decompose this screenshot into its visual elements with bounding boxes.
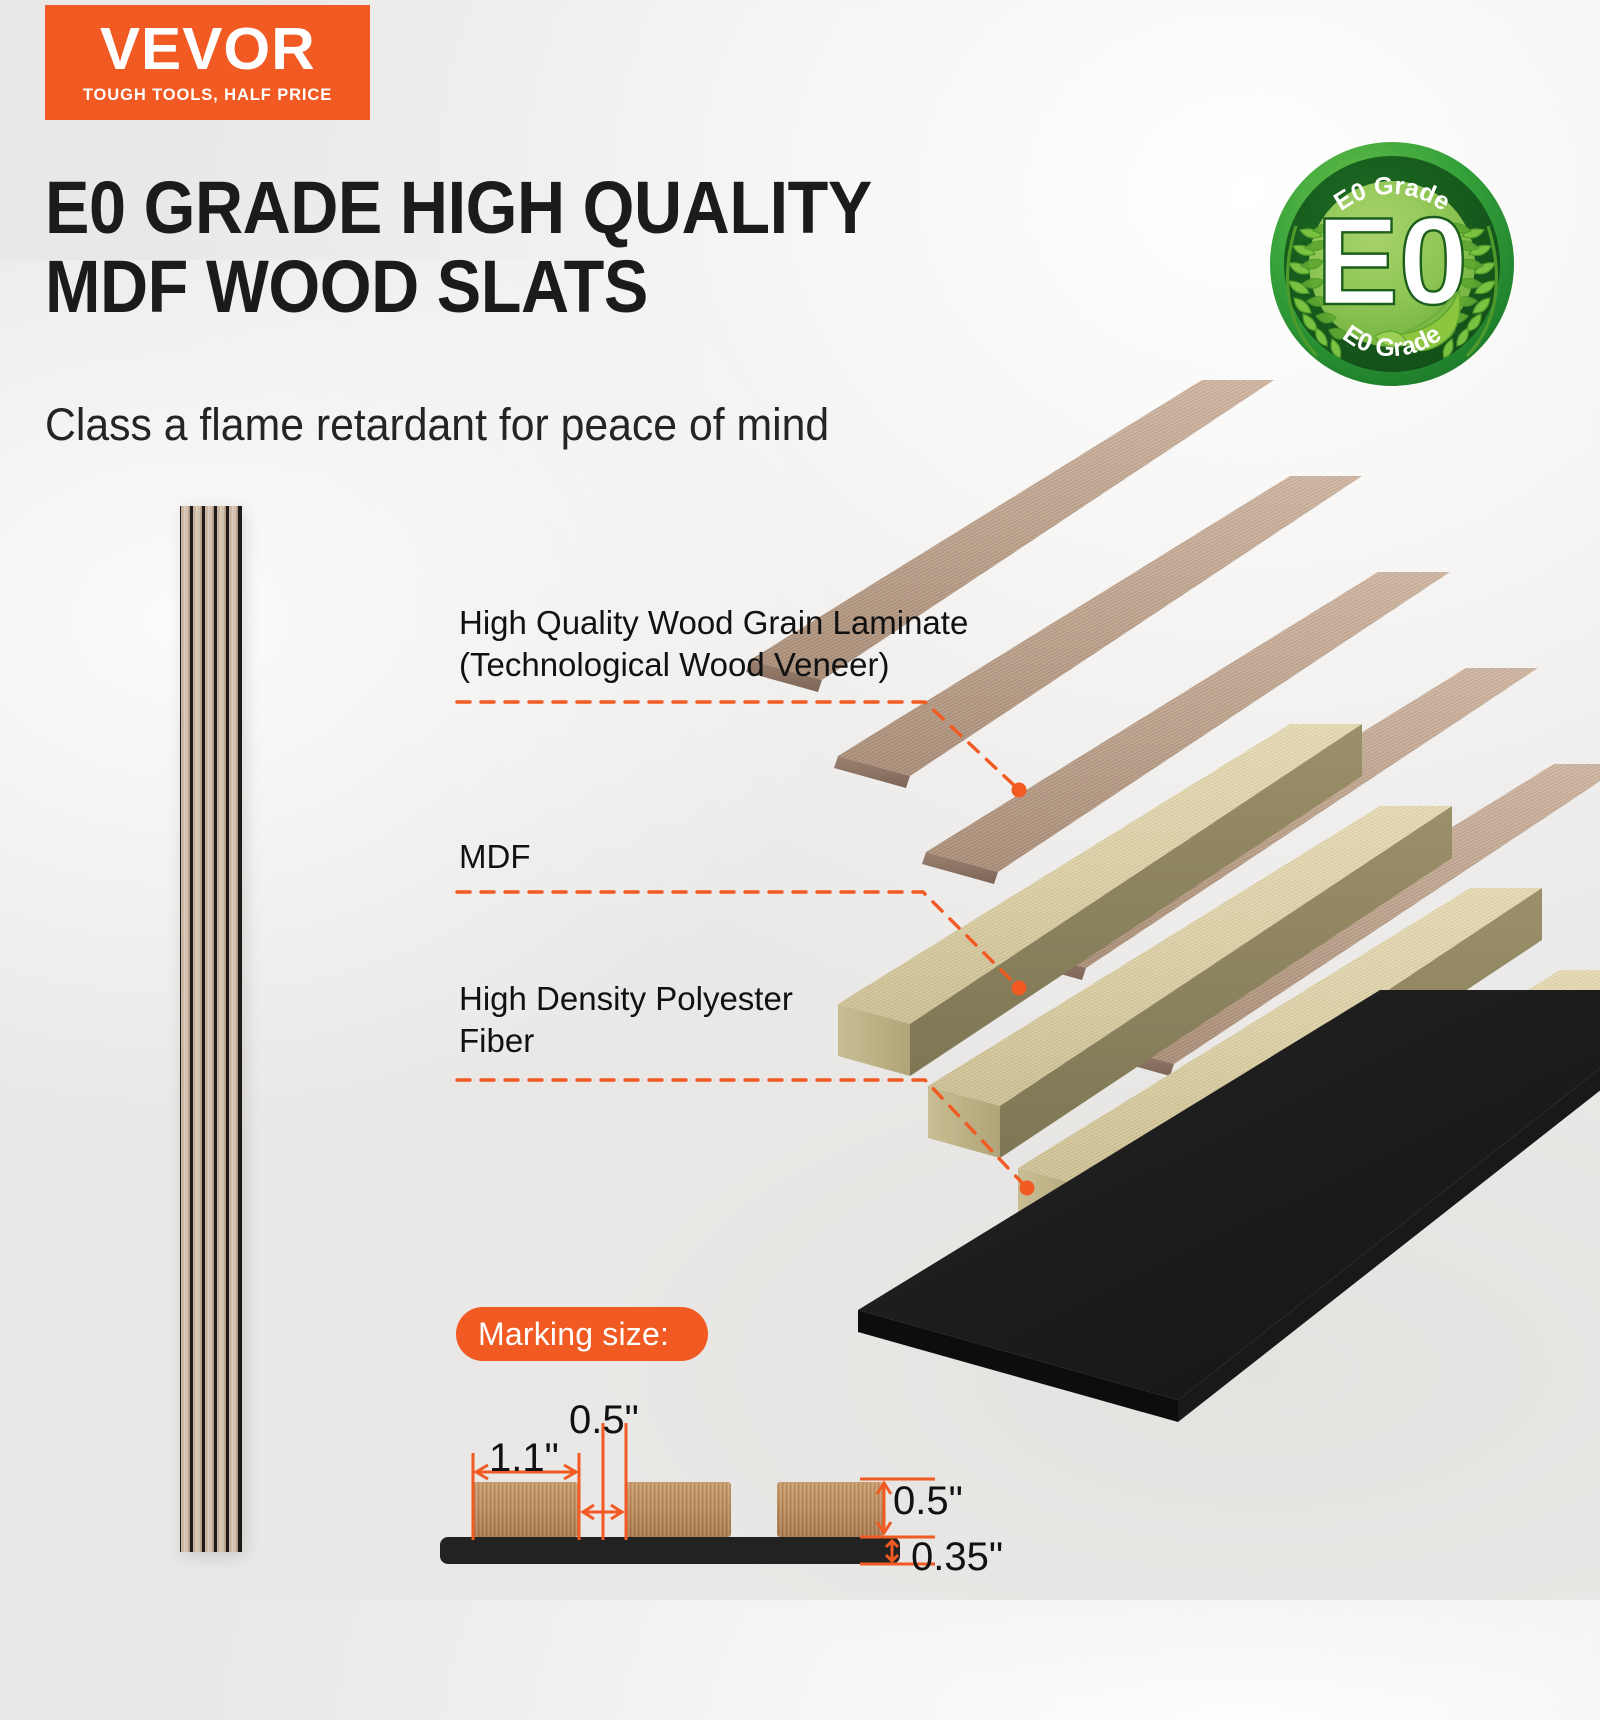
leader-line-laminate — [455, 690, 1055, 810]
dimension-backing-bar — [440, 1537, 900, 1564]
infographic-canvas: VEVOR TOUGH TOOLS, HALF PRICE E0 GRADE H… — [0, 0, 1600, 1600]
callout-laminate-line1: High Quality Wood Grain Laminate — [459, 602, 1019, 644]
callout-mdf: MDF — [459, 836, 859, 878]
dimension-label-slat-height: 0.5" — [893, 1481, 963, 1521]
marking-size-badge: Marking size: — [456, 1307, 708, 1361]
dimension-slat-blocks — [472, 1482, 883, 1537]
page-subtitle: Class a flame retardant for peace of min… — [45, 398, 1090, 452]
dimension-label-backing-thickness: 0.35" — [911, 1537, 1003, 1577]
vevor-logo: VEVOR TOUGH TOOLS, HALF PRICE — [45, 5, 370, 120]
dimension-label-slat-width: 1.1" — [489, 1438, 559, 1478]
brand-tagline: TOUGH TOOLS, HALF PRICE — [83, 86, 332, 105]
vertical-slat-panel-image — [180, 506, 242, 1552]
callout-laminate-line2: (Technological Wood Veneer) — [459, 644, 1019, 686]
dimension-label-gap-width: 0.5" — [569, 1400, 639, 1440]
callout-laminate: High Quality Wood Grain Laminate (Techno… — [459, 602, 1019, 686]
badge-center-text: E0 — [1316, 193, 1468, 331]
e0-grade-badge-icon: E0 E0 Grade E0 Grade — [1253, 138, 1531, 390]
leader-line-fiber — [455, 1068, 1075, 1208]
page-title: E0 GRADE HIGH QUALITY MDF WOOD SLATS — [45, 168, 999, 326]
marking-size-label: Marking size: — [478, 1316, 669, 1353]
callout-mdf-line1: MDF — [459, 836, 859, 878]
brand-name: VEVOR — [100, 20, 316, 79]
callout-fiber-line2: Fiber — [459, 1020, 899, 1062]
leader-line-mdf — [455, 880, 1055, 1010]
